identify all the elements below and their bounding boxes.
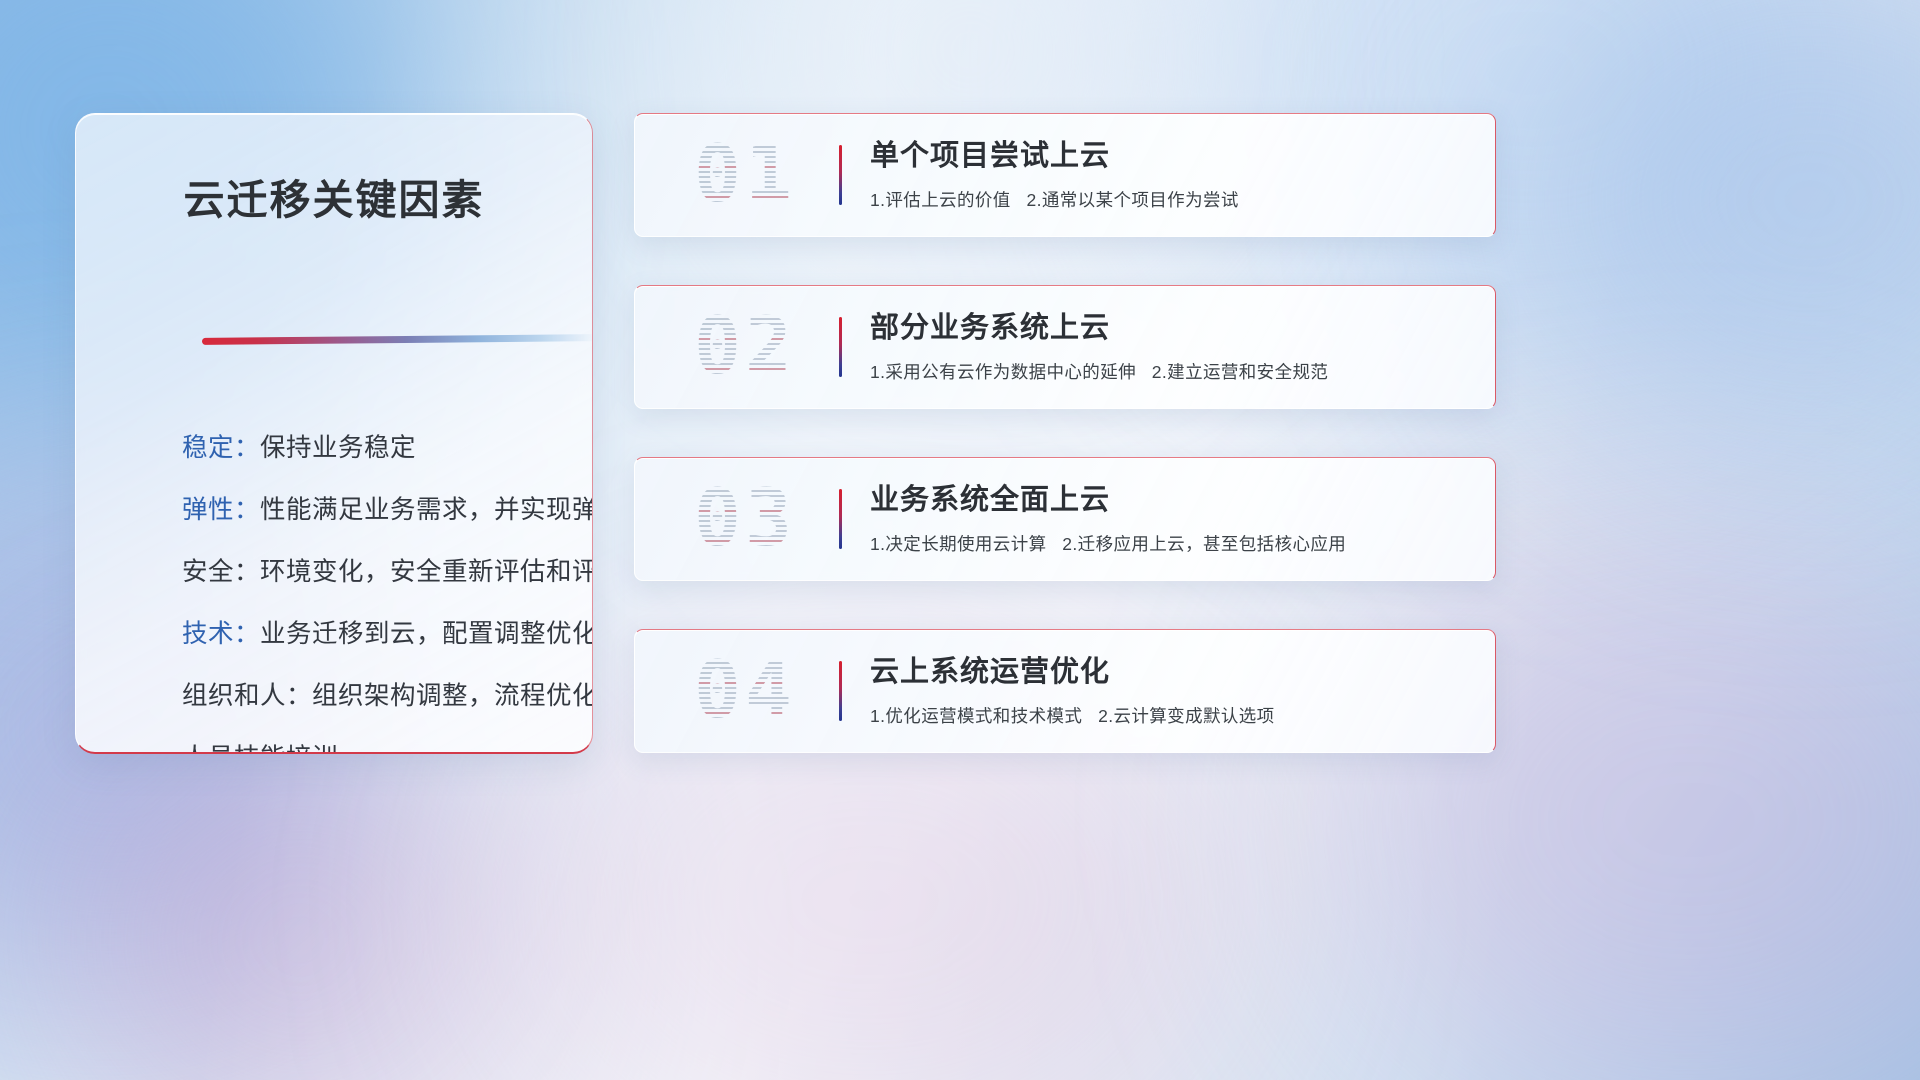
stage-card[interactable]: 01 单个项目尝试上云 1.评估上云的价值 2.通常以某个项目作为尝试 [634,113,1496,237]
factor-list: 稳定：保持业务稳定 弹性：性能满足业务需求，并实现弹性 安全：环境变化，安全重新… [182,417,570,754]
factor-label: 技术： [182,620,260,648]
stage-title: 单个项目尝试上云 [870,138,1239,174]
factor-row: 技术：业务迁移到云，配置调整优化 [182,603,570,665]
key-factors-panel: 云迁移关键因素 稳定：保持业务稳定 弹性：性能满足业务需求，并实现弹性 安全：环… [75,113,593,754]
stage-card[interactable]: 03 业务系统全面上云 1.决定长期使用云计算 2.迁移应用上云，甚至包括核心应… [634,457,1496,581]
stage-detail: 1.评估上云的价值 2.通常以某个项目作为尝试 [870,187,1239,212]
stage-number: 01 [657,136,833,214]
factor-row: 弹性：性能满足业务需求，并实现弹性 [182,479,570,541]
stage-title: 部分业务系统上云 [870,310,1328,346]
page-title: 云迁移关键因素 [76,166,592,226]
factor-row: 安全：环境变化，安全重新评估和评审 [182,541,570,603]
stage-text-block: 业务系统全面上云 1.决定长期使用云计算 2.迁移应用上云，甚至包括核心应用 [870,482,1346,556]
factor-value: 组织架构调整，流程优化， [312,682,593,710]
stage-card[interactable]: 04 云上系统运营优化 1.优化运营模式和技术模式 2.云计算变成默认选项 [634,629,1496,753]
stage-text-block: 云上系统运营优化 1.优化运营模式和技术模式 2.云计算变成默认选项 [870,654,1275,728]
factor-label: 稳定： [182,434,260,462]
factor-label: 弹性： [182,496,260,524]
factor-value-continuation: 人员技能培训 [182,727,570,754]
title-underline-accent [202,334,593,345]
factor-value: 保持业务稳定 [260,434,416,462]
stage-detail: 1.决定长期使用云计算 2.迁移应用上云，甚至包括核心应用 [870,531,1346,556]
stage-card-list: 01 单个项目尝试上云 1.评估上云的价值 2.通常以某个项目作为尝试 02 部… [634,113,1496,801]
stage-accent-bar [839,489,842,549]
factor-value: 性能满足业务需求，并实现弹性 [260,496,593,524]
stage-number: 03 [657,480,833,558]
factor-row: 组织和人：组织架构调整，流程优化， [182,665,570,727]
factor-value: 环境变化，安全重新评估和评审 [260,558,593,586]
stage-title: 云上系统运营优化 [870,654,1275,690]
stage-accent-bar [839,661,842,721]
factor-label: 安全： [182,558,260,586]
stage-accent-bar [839,317,842,377]
factor-label: 组织和人： [182,682,312,710]
stage-accent-bar [839,145,842,205]
stage-title: 业务系统全面上云 [870,482,1346,518]
stage-text-block: 部分业务系统上云 1.采用公有云作为数据中心的延伸 2.建立运营和安全规范 [870,310,1328,384]
stage-detail: 1.采用公有云作为数据中心的延伸 2.建立运营和安全规范 [870,359,1328,384]
factor-row: 稳定：保持业务稳定 [182,417,570,479]
stage-card[interactable]: 02 部分业务系统上云 1.采用公有云作为数据中心的延伸 2.建立运营和安全规范 [634,285,1496,409]
stage-number: 04 [657,652,833,730]
stage-number: 02 [657,308,833,386]
stage-text-block: 单个项目尝试上云 1.评估上云的价值 2.通常以某个项目作为尝试 [870,138,1239,212]
stage-detail: 1.优化运营模式和技术模式 2.云计算变成默认选项 [870,703,1275,728]
factor-value: 业务迁移到云，配置调整优化 [260,620,593,648]
